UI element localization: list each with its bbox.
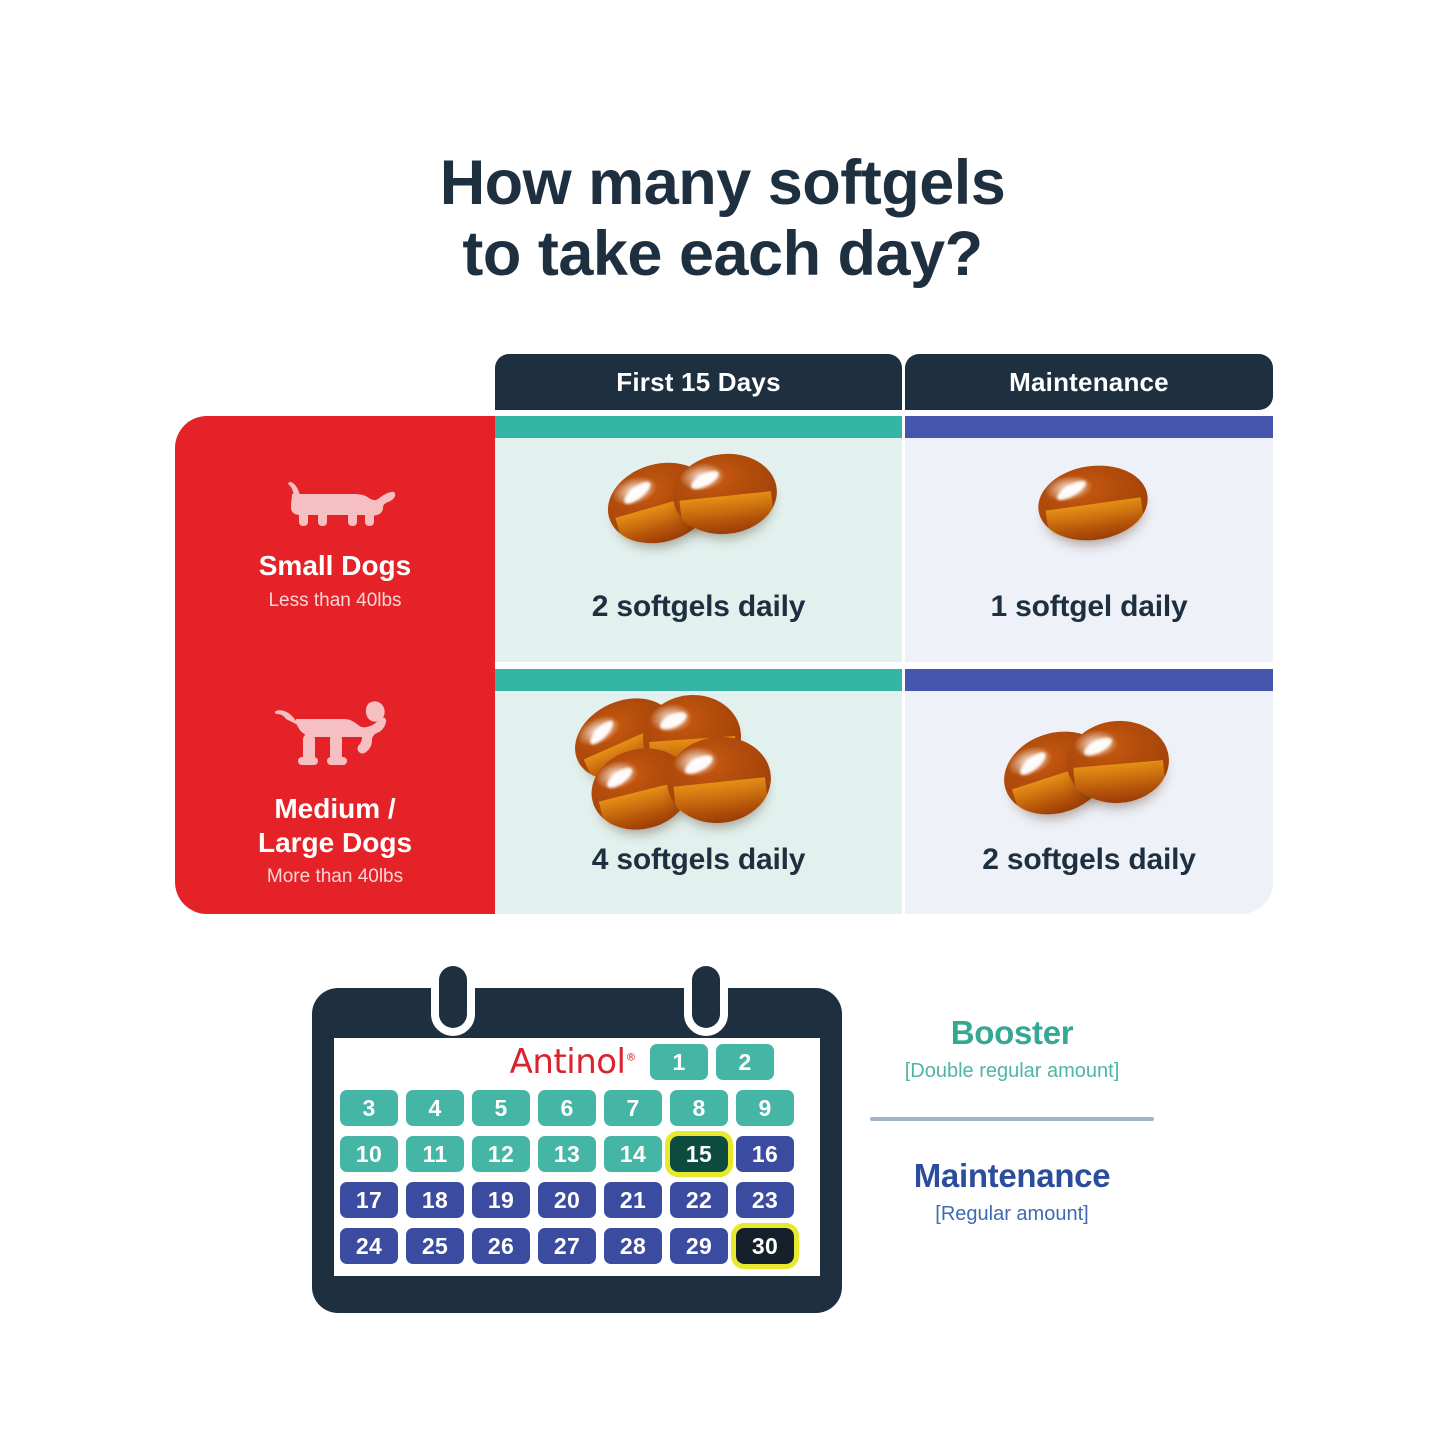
calendar-day[interactable]: 13 (538, 1136, 596, 1172)
calendar-day[interactable]: 16 (736, 1136, 794, 1172)
calendar-binding-pin-right (692, 966, 720, 1028)
row-label-text: Small Dogs (259, 549, 411, 582)
calendar-row: 24 25 26 27 28 29 30 (334, 1226, 820, 1266)
calendar-day[interactable]: 28 (604, 1228, 662, 1264)
calendar-day[interactable]: 4 (406, 1090, 464, 1126)
large-dog-icon (270, 695, 400, 778)
legend: Booster [Double regular amount] Maintena… (866, 1014, 1158, 1226)
calendar-day[interactable]: 2 (716, 1044, 774, 1080)
softgel-group-2 (495, 438, 902, 588)
cell-large-maintenance: 2 softgels daily (905, 669, 1273, 914)
calendar-day[interactable]: 27 (538, 1228, 596, 1264)
calendar-day[interactable]: 24 (340, 1228, 398, 1264)
calendar-day[interactable]: 8 (670, 1090, 728, 1126)
cell-small-first: 2 softgels daily (495, 416, 902, 662)
calendar-day-highlighted-15[interactable]: 15 (670, 1136, 728, 1172)
softgel-group-1 (905, 438, 1273, 588)
dose-caption: 2 softgels daily (982, 843, 1196, 877)
calendar-day-highlighted-30[interactable]: 30 (736, 1228, 794, 1264)
calendar-day[interactable]: 1 (650, 1044, 708, 1080)
dachshund-icon (270, 466, 400, 535)
calendar-day[interactable]: 6 (538, 1090, 596, 1126)
calendar-day[interactable]: 3 (340, 1090, 398, 1126)
calendar-row: 17 18 19 20 21 22 23 (334, 1180, 820, 1220)
accent-bar-teal (495, 416, 902, 438)
column-header-first-15-days: First 15 Days (495, 354, 902, 410)
calendar-row: Antinol® 1 2 (334, 1042, 820, 1082)
row-weight-text: More than 40lbs (267, 866, 403, 888)
calendar-day[interactable]: 22 (670, 1182, 728, 1218)
column-maintenance: 1 softgel daily 2 softgels daily (905, 416, 1273, 914)
dosage-table: First 15 Days Maintenance Small Dogs Les… (175, 354, 1273, 914)
legend-maintenance-title: Maintenance (866, 1157, 1158, 1195)
calendar-day[interactable]: 7 (604, 1090, 662, 1126)
column-first-15-days: 2 softgels daily 4 softgels daily (495, 416, 902, 914)
calendar-day[interactable]: 9 (736, 1090, 794, 1126)
column-header-maintenance: Maintenance (905, 354, 1273, 410)
calendar-day[interactable]: 10 (340, 1136, 398, 1172)
softgel-group-2 (905, 691, 1273, 841)
row-label-small-dogs: Small Dogs Less than 40lbs (175, 416, 495, 662)
calendar-row: 10 11 12 13 14 15 16 (334, 1134, 820, 1174)
calendar-day[interactable]: 11 (406, 1136, 464, 1172)
calendar-day[interactable]: 19 (472, 1182, 530, 1218)
calendar-day[interactable]: 17 (340, 1182, 398, 1218)
calendar-day[interactable]: 21 (604, 1182, 662, 1218)
antinol-logo-text: Antinol (510, 1042, 626, 1082)
legend-booster-title: Booster (866, 1014, 1158, 1052)
calendar-paper: Antinol® 1 2 3 4 5 6 7 8 9 10 11 12 13 1… (334, 1038, 820, 1276)
calendar-day[interactable]: 14 (604, 1136, 662, 1172)
row-label-text: Medium / Large Dogs (258, 792, 412, 858)
row-label-medium-large-dogs: Medium / Large Dogs More than 40lbs (175, 669, 495, 914)
calendar-binding-pin-left (439, 966, 467, 1028)
row-weight-text: Less than 40lbs (268, 590, 401, 612)
calendar-day[interactable]: 23 (736, 1182, 794, 1218)
accent-bar-teal (495, 669, 902, 691)
calendar: Antinol® 1 2 3 4 5 6 7 8 9 10 11 12 13 1… (312, 988, 842, 1313)
title-line-2: to take each day? (0, 219, 1445, 290)
legend-booster-subtitle: [Double regular amount] (866, 1060, 1158, 1083)
legend-divider (870, 1117, 1154, 1121)
title-line-1: How many softgels (0, 148, 1445, 219)
dose-caption: 2 softgels daily (592, 590, 806, 624)
dog-size-column: Small Dogs Less than 40lbs Medium / Larg… (175, 416, 495, 914)
accent-bar-blue (905, 416, 1273, 438)
calendar-day[interactable]: 20 (538, 1182, 596, 1218)
page-title: How many softgels to take each day? (0, 148, 1445, 290)
registered-mark: ® (626, 1051, 637, 1064)
calendar-day[interactable]: 18 (406, 1182, 464, 1218)
calendar-day[interactable]: 5 (472, 1090, 530, 1126)
dose-caption: 4 softgels daily (592, 843, 806, 877)
accent-bar-blue (905, 669, 1273, 691)
cell-large-first: 4 softgels daily (495, 669, 902, 914)
calendar-day[interactable]: 29 (670, 1228, 728, 1264)
cell-small-maintenance: 1 softgel daily (905, 416, 1273, 662)
softgel-group-4 (495, 691, 902, 841)
legend-maintenance-subtitle: [Regular amount] (866, 1203, 1158, 1226)
antinol-logo: Antinol® (340, 1044, 642, 1080)
calendar-day[interactable]: 12 (472, 1136, 530, 1172)
calendar-row: 3 4 5 6 7 8 9 (334, 1088, 820, 1128)
dose-caption: 1 softgel daily (990, 590, 1187, 624)
calendar-day[interactable]: 25 (406, 1228, 464, 1264)
calendar-day[interactable]: 26 (472, 1228, 530, 1264)
